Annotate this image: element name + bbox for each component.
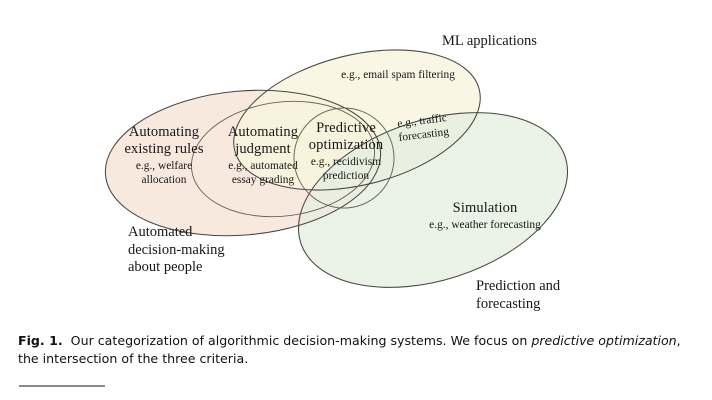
region-title: Predictive optimization (300, 120, 392, 154)
region-example: e.g., recidivism prediction (300, 156, 392, 183)
set-label-ml-applications: ML applications (442, 33, 537, 51)
footnote-separator-rule (19, 385, 105, 387)
figure-number: Fig. 1. (18, 333, 63, 348)
figure-caption: Fig. 1. Our categorization of algorithmi… (18, 332, 694, 369)
caption-text-before: Our categorization of algorithmic decisi… (71, 333, 532, 348)
set-label-prediction-and-forecasting: Prediction and forecasting (476, 278, 560, 313)
figure-root: Automating existing rules e.g., welfare … (0, 0, 712, 400)
region-label-automating-existing-rules: Automating existing rules e.g., welfare … (108, 124, 220, 187)
caption-spacer (63, 333, 71, 348)
region-label-predictive-optimization: Predictive optimization e.g., recidivism… (300, 120, 392, 183)
set-label-automated-decision-making: Automated decision-making about people (128, 224, 225, 277)
region-example: e.g., welfare allocation (108, 160, 220, 187)
venn-diagram: Automating existing rules e.g., welfare … (0, 0, 712, 322)
region-title: Simulation (400, 200, 570, 217)
region-title: Automating existing rules (108, 124, 220, 158)
region-example: e.g., weather forecasting (400, 219, 570, 232)
region-label-simulation: Simulation e.g., weather forecasting (400, 200, 570, 233)
caption-emphasis: predictive optimization (531, 333, 676, 348)
example-email-spam-filtering: e.g., email spam filtering (318, 69, 478, 83)
